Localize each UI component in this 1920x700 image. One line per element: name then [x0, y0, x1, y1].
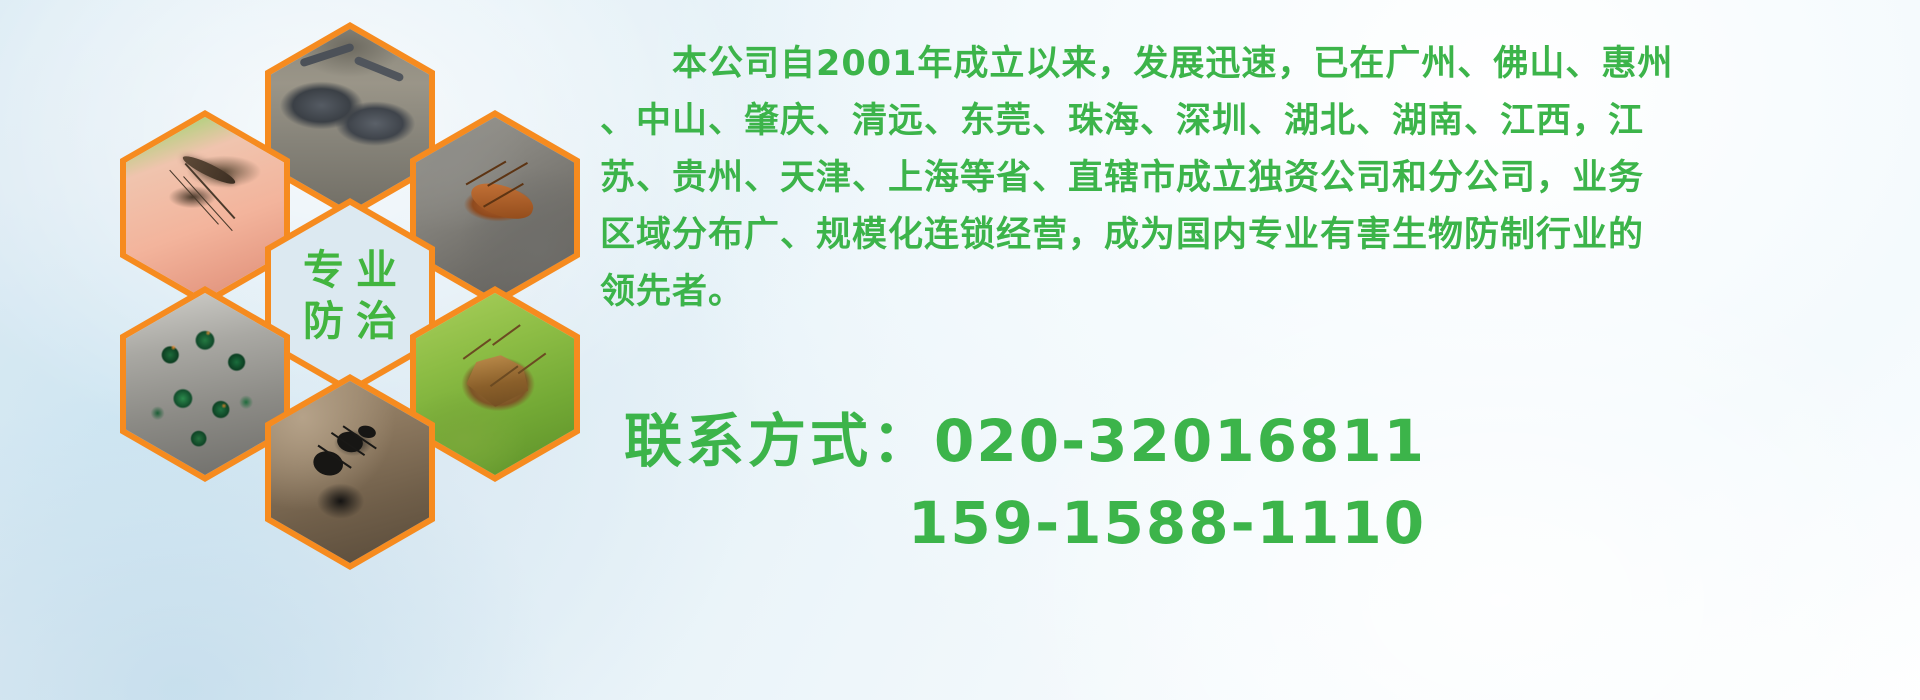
hex-inner-rats [271, 29, 429, 211]
contact-label: 联系方式： [624, 407, 934, 475]
honeycomb-image-collage: 专业 防治 [95, 10, 595, 570]
slogan-line-2: 防治 [291, 301, 409, 342]
slogan-line-1: 专业 [291, 250, 409, 291]
cockroach-photo [416, 117, 574, 299]
flies-photo [126, 293, 284, 475]
hex-cell-ant [265, 374, 435, 570]
banner-content: 本公司自2001年成立以来，发展迅速，已在广州、佛山、惠州 、中山、肇庆、清远、… [600, 0, 1920, 700]
company-description: 本公司自2001年成立以来，发展迅速，已在广州、佛山、惠州 、中山、肇庆、清远、… [600, 36, 1920, 321]
promotional-banner: 专业 防治 本公司自2001年成立以来，发展迅速，已在广州、佛山、惠州 、中 [0, 0, 1920, 700]
contact-block: 联系方式：020-32016811 159-1588-1110 [600, 400, 1920, 564]
hex-cell-mosquito [120, 110, 290, 306]
contact-secondary-line: 159-1588-1110 [600, 482, 1920, 564]
hex-cell-flies [120, 286, 290, 482]
hex-cell-stinkbug [410, 286, 580, 482]
hex-inner-ant [271, 381, 429, 563]
hex-cell-slogan: 专业 防治 [265, 198, 435, 394]
about-line-4: 区域分布广、规模化连锁经营，成为国内专业有害生物防制行业的 [600, 207, 1920, 264]
hex-cell-rats [265, 22, 435, 218]
rats-photo [271, 29, 429, 211]
hex-cell-cockroach [410, 110, 580, 306]
about-line-3: 苏、贵州、天津、上海等省、直辖市成立独资公司和分公司，业务 [600, 150, 1920, 207]
hex-inner-stinkbug [416, 293, 574, 475]
ant-photo [271, 381, 429, 563]
about-line-1: 本公司自2001年成立以来，发展迅速，已在广州、佛山、惠州 [600, 36, 1920, 93]
hex-inner-mosquito [126, 117, 284, 299]
contact-phone-secondary[interactable]: 159-1588-1110 [908, 489, 1426, 557]
mosquito-photo [126, 117, 284, 299]
stinkbug-photo [416, 293, 574, 475]
hex-inner-flies [126, 293, 284, 475]
about-line-5: 领先者。 [600, 264, 1920, 321]
about-line-2: 、中山、肇庆、清远、东莞、珠海、深圳、湖北、湖南、江西，江 [600, 93, 1920, 150]
hex-inner-slogan: 专业 防治 [271, 205, 429, 387]
slogan-block: 专业 防治 [271, 205, 429, 387]
contact-primary-line: 联系方式：020-32016811 [600, 400, 1920, 482]
hex-inner-cockroach [416, 117, 574, 299]
contact-phone-primary[interactable]: 020-32016811 [934, 407, 1426, 475]
